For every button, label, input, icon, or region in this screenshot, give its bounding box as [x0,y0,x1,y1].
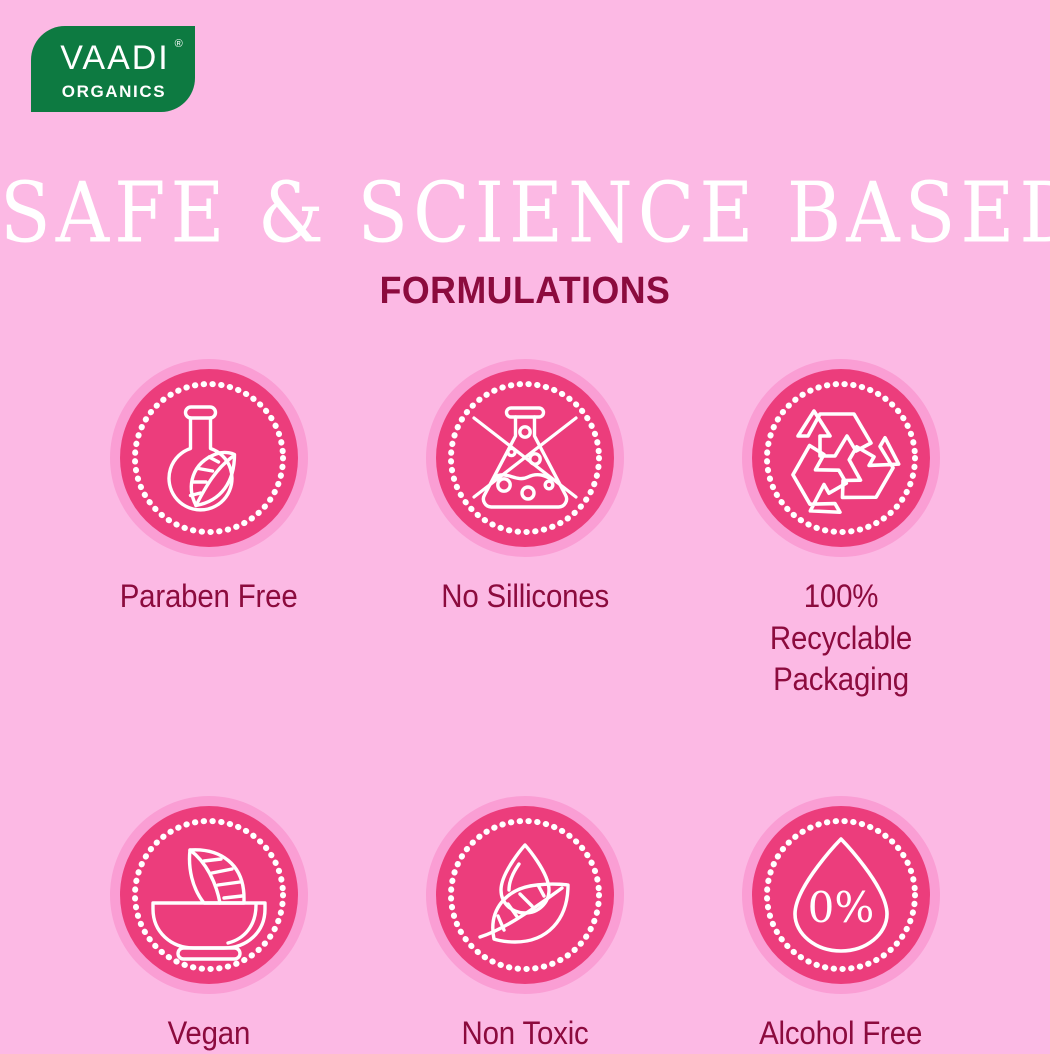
brand-tagline: ORGANICS [60,83,166,100]
badge-label: No Sillicones [441,576,609,618]
badge-label: Non Toxic [461,1013,588,1054]
badge-medallion [99,785,319,1005]
zero-percent-droplet-icon: 0% [752,806,930,984]
badge-label: Alcohol Free [759,1013,922,1054]
badge-label: Paraben Free [120,576,298,618]
badge-medallion [415,348,635,568]
brand-name: VAADI® [56,41,170,75]
page-title: SAFE & SCIENCE BASED [0,172,1050,255]
badge-recyclable-packaging: 100% Recyclable Packaging [731,348,951,701]
badge-label: 100% Recyclable Packaging [740,576,942,701]
badge-vegan: Vegan [99,785,319,1054]
recycle-icon [752,369,930,547]
badge-medallion: 0% [731,785,951,1005]
badge-no-sillicones: No Sillicones [415,348,635,701]
registered-trademark-icon: ® [175,39,183,50]
badge-medallion [731,348,951,568]
badge-alcohol-free: 0% Alcohol Free [731,785,951,1054]
page-subtitle: FORMULATIONS [32,272,1019,310]
badge-non-toxic: Non Toxic [415,785,635,1054]
droplet-value-text: 0% [808,883,875,932]
badge-row-bottom: Vegan [0,785,1050,1054]
badge-paraben-free: Paraben Free [99,348,319,701]
benefit-badge-grid: Paraben Free [0,348,1050,1054]
brand-name-text: VAADI [60,39,170,77]
droplet-leaf-icon [436,806,614,984]
badge-row-top: Paraben Free [0,348,1050,701]
bowl-leaf-icon [120,806,298,984]
badge-label: Vegan [168,1013,251,1054]
crossed-out-erlenmeyer-flask-icon [436,369,614,547]
badge-medallion [99,348,319,568]
flask-leaf-icon [120,369,298,547]
poster: VAADI® ORGANICS SAFE & SCIENCE BASED FOR… [0,0,1050,1050]
badge-medallion [415,785,635,1005]
brand-logo: VAADI® ORGANICS [31,26,195,112]
